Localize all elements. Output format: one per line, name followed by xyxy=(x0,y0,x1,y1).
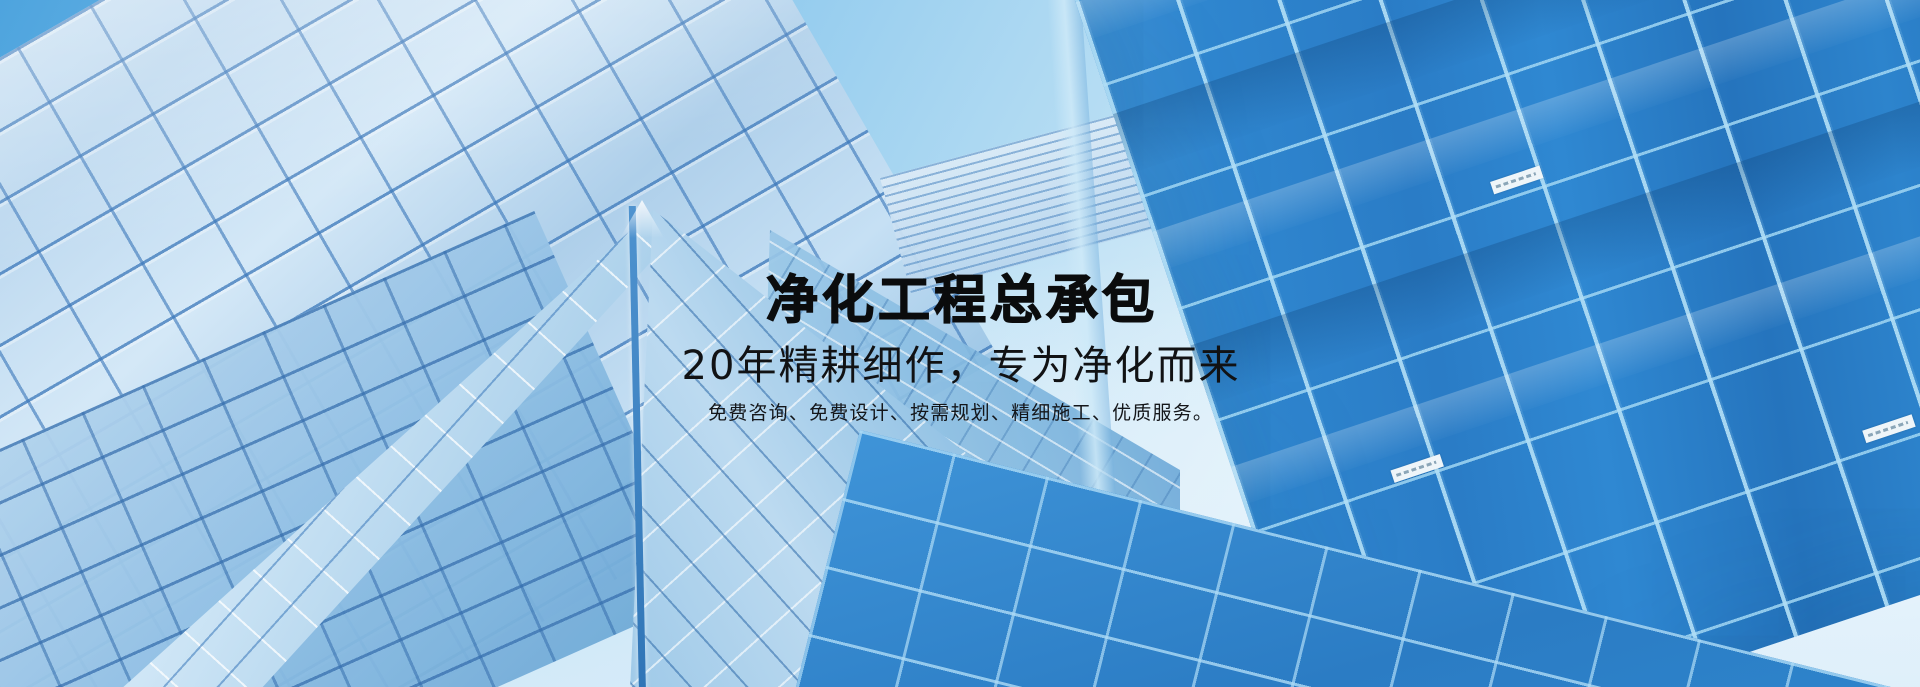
hero-headline: 净化工程总承包 xyxy=(0,274,1920,329)
hero-copy-block: 净化工程总承包 20年精耕细作，专为净化而来 免费咨询、免费设计、按需规划、精细… xyxy=(0,274,1920,425)
hero-subheadline: 20年精耕细作，专为净化而来 xyxy=(0,345,1920,388)
hero-banner: 净化工程总承包 20年精耕细作，专为净化而来 免费咨询、免费设计、按需规划、精细… xyxy=(0,0,1920,687)
hero-tagline: 免费咨询、免费设计、按需规划、精细施工、优质服务。 xyxy=(0,402,1920,425)
